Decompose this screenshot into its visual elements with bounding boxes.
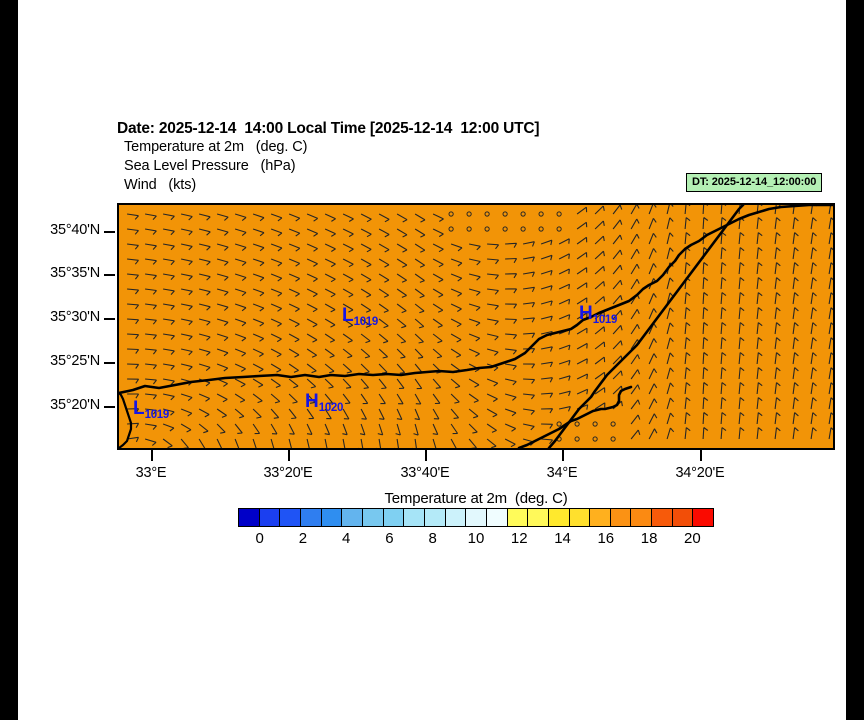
longitude-tick-text: 34°E bbox=[502, 465, 622, 481]
longitude-tick-label: 33°E bbox=[91, 465, 211, 483]
colorbar-swatch[interactable] bbox=[446, 509, 467, 526]
colorbar-swatch[interactable] bbox=[570, 509, 591, 526]
longitude-tick-text: 33°E bbox=[91, 465, 211, 481]
colorbar-swatch[interactable] bbox=[301, 509, 322, 526]
colorbar-tick-text: 18 bbox=[629, 530, 669, 547]
colorbar-swatch[interactable] bbox=[487, 509, 508, 526]
colorbar-swatch[interactable] bbox=[508, 509, 529, 526]
colorbar-swatch[interactable] bbox=[466, 509, 487, 526]
latitude-tick-label: 35°25'N bbox=[0, 353, 100, 369]
colorbar-swatch[interactable] bbox=[322, 509, 343, 526]
longitude-tick bbox=[425, 450, 427, 461]
latitude-tick-text: 35°30'N bbox=[50, 309, 100, 325]
colorbar-swatch[interactable] bbox=[693, 509, 713, 526]
colorbar-swatch[interactable] bbox=[404, 509, 425, 526]
latitude-tick bbox=[104, 406, 115, 408]
longitude-tick-label: 34°E bbox=[502, 465, 622, 483]
colorbar-swatch[interactable] bbox=[363, 509, 384, 526]
date-line: Date: 2025-12-14 14:00 Local Time [2025-… bbox=[117, 119, 737, 138]
longitude-tick-text: 33°20'E bbox=[228, 465, 348, 481]
latitude-tick-label: 35°20'N bbox=[0, 397, 100, 413]
map-background bbox=[119, 205, 833, 448]
colorbar-swatch[interactable] bbox=[280, 509, 301, 526]
map-content bbox=[119, 205, 833, 448]
latitude-tick-text: 35°40'N bbox=[50, 222, 100, 238]
colorbar-swatch[interactable] bbox=[239, 509, 260, 526]
longitude-tick-text: 34°20'E bbox=[640, 465, 760, 481]
colorbar-swatch[interactable] bbox=[611, 509, 632, 526]
colorbar[interactable] bbox=[238, 508, 714, 527]
longitude-tick-label: 33°20'E bbox=[228, 465, 348, 483]
datetime-badge: DT: 2025-12-14_12:00:00 bbox=[686, 173, 822, 192]
colorbar-tick-labels: 02468101214161820 bbox=[238, 530, 714, 550]
latitude-tick bbox=[104, 318, 115, 320]
colorbar-swatch[interactable] bbox=[652, 509, 673, 526]
colorbar-swatch[interactable] bbox=[631, 509, 652, 526]
colorbar-tick-text: 16 bbox=[586, 530, 626, 547]
field-line-wind: Wind (kts) bbox=[117, 176, 737, 195]
colorbar-swatch[interactable] bbox=[549, 509, 570, 526]
latitude-tick bbox=[104, 362, 115, 364]
latitude-tick-text: 35°35'N bbox=[50, 265, 100, 281]
longitude-tick-label: 34°20'E bbox=[640, 465, 760, 483]
latitude-tick bbox=[104, 231, 115, 233]
longitude-tick bbox=[151, 450, 153, 461]
longitude-tick bbox=[562, 450, 564, 461]
colorbar-tick-text: 20 bbox=[672, 530, 712, 547]
colorbar-swatch[interactable] bbox=[342, 509, 363, 526]
right-letterbox-bar bbox=[846, 0, 864, 720]
latitude-tick-label: 35°30'N bbox=[0, 309, 100, 325]
colorbar-swatch[interactable] bbox=[260, 509, 281, 526]
latitude-tick-text: 35°25'N bbox=[50, 353, 100, 369]
latitude-tick-label: 35°35'N bbox=[0, 265, 100, 281]
colorbar-tick-text: 2 bbox=[283, 530, 323, 547]
colorbar-tick-text: 8 bbox=[413, 530, 453, 547]
latitude-tick-label: 35°40'N bbox=[0, 222, 100, 238]
longitude-tick bbox=[700, 450, 702, 461]
longitude-tick-text: 33°40'E bbox=[365, 465, 485, 481]
colorbar-tick-text: 0 bbox=[240, 530, 280, 547]
colorbar-title: Temperature at 2m (deg. C) bbox=[238, 490, 714, 507]
weather-map-page: Date: 2025-12-14 14:00 Local Time [2025-… bbox=[0, 0, 864, 720]
field-line-temperature: Temperature at 2m (deg. C) bbox=[117, 138, 737, 157]
colorbar-tick-text: 14 bbox=[543, 530, 583, 547]
field-line-pressure: Sea Level Pressure (hPa) bbox=[117, 157, 737, 176]
colorbar-tick-text: 4 bbox=[326, 530, 366, 547]
colorbar-tick-text: 10 bbox=[456, 530, 496, 547]
longitude-tick bbox=[288, 450, 290, 461]
colorbar-swatch[interactable] bbox=[528, 509, 549, 526]
latitude-tick bbox=[104, 274, 115, 276]
colorbar-swatch[interactable] bbox=[425, 509, 446, 526]
map-plot-area[interactable]: L1019 H1019 L1019 H1020 bbox=[117, 203, 835, 450]
longitude-tick-label: 33°40'E bbox=[365, 465, 485, 483]
colorbar-swatch[interactable] bbox=[384, 509, 405, 526]
latitude-tick-text: 35°20'N bbox=[50, 397, 100, 413]
colorbar-tick-text: 12 bbox=[499, 530, 539, 547]
colorbar-tick-text: 6 bbox=[369, 530, 409, 547]
header-text-block: Date: 2025-12-14 14:00 Local Time [2025-… bbox=[117, 119, 737, 195]
colorbar-swatch[interactable] bbox=[673, 509, 694, 526]
colorbar-swatch[interactable] bbox=[590, 509, 611, 526]
